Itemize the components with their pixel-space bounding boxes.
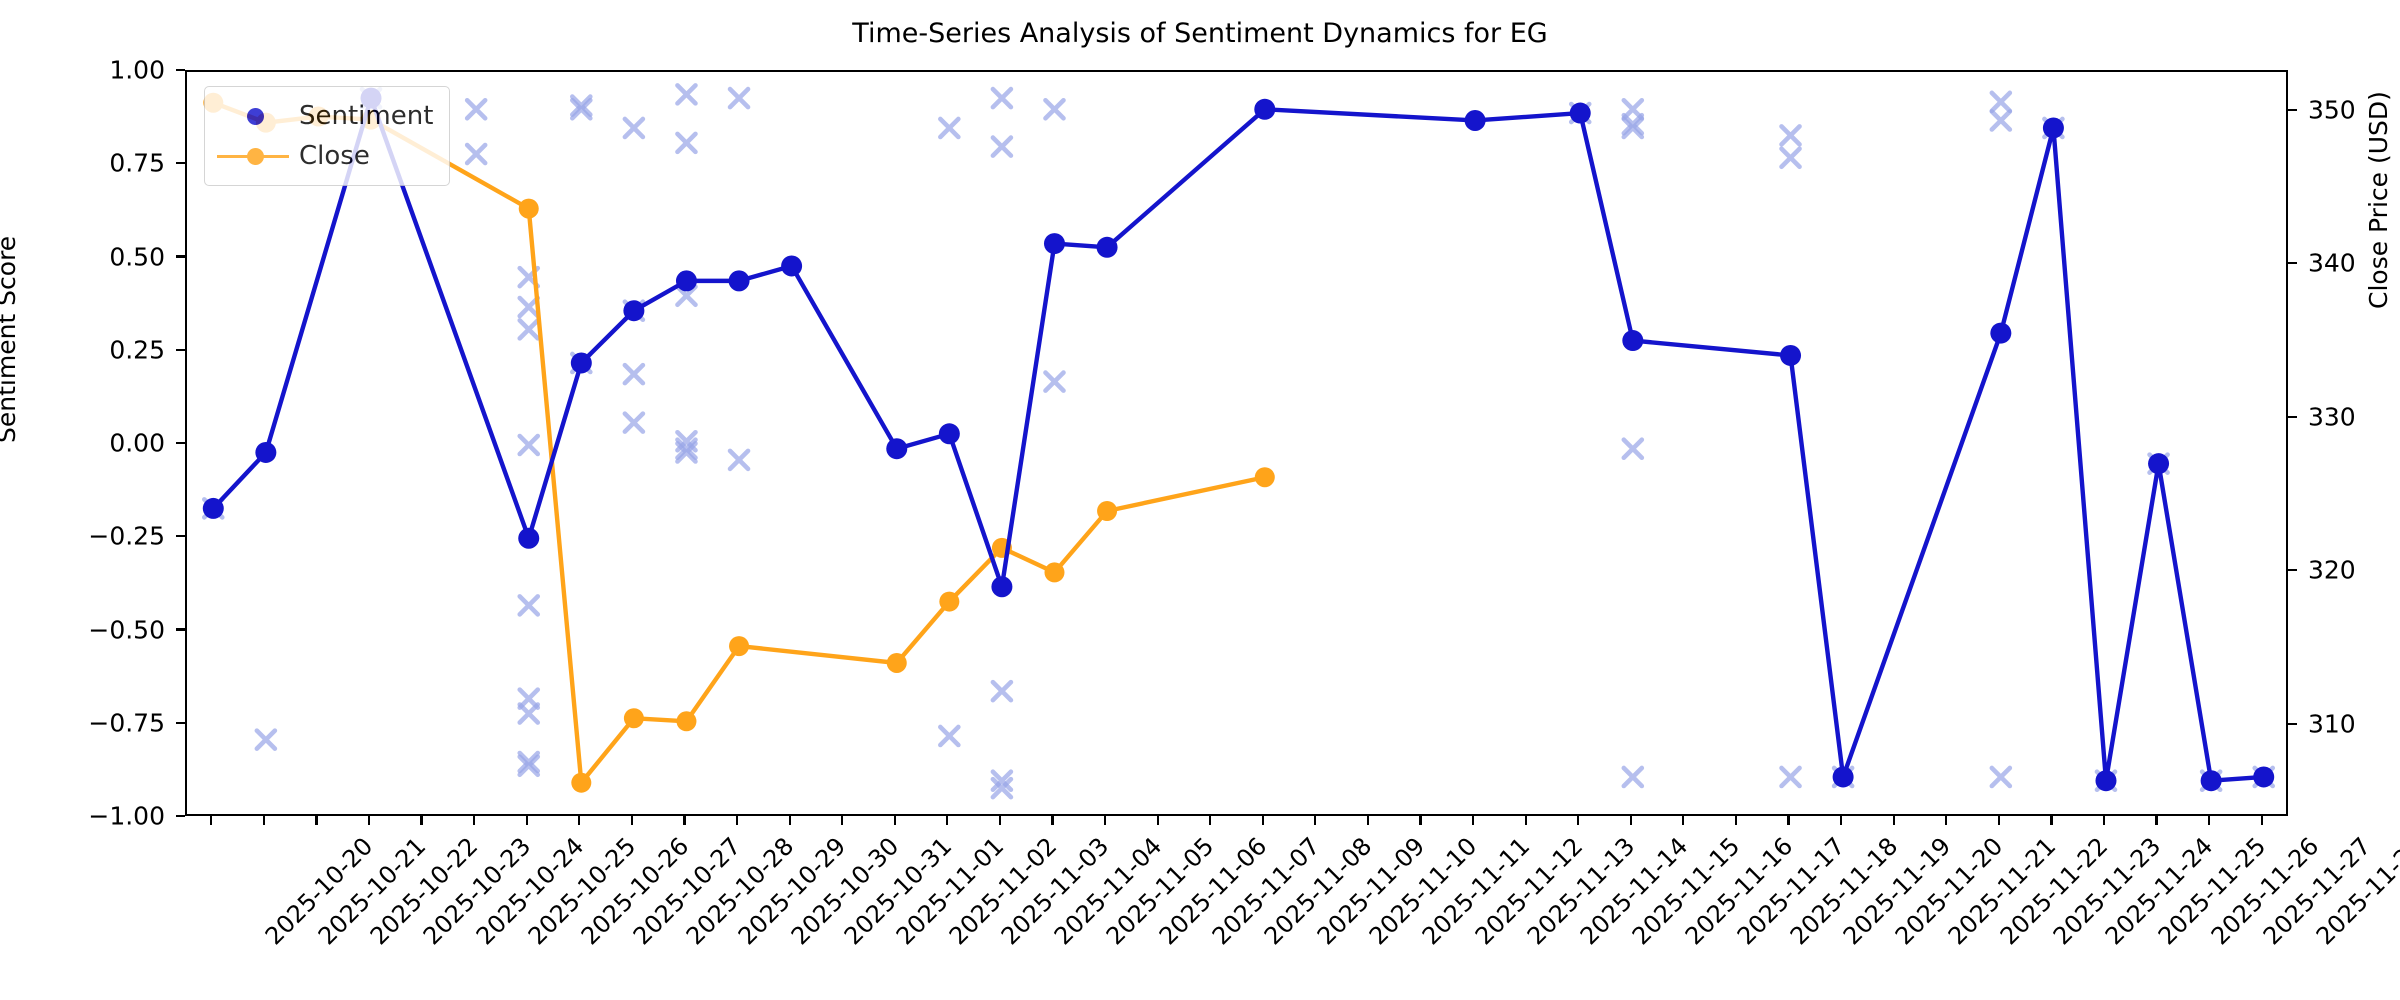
scatter-marker-x [993, 138, 1011, 156]
sentiment-series-point[interactable] [1044, 233, 1065, 254]
close-series-group [203, 93, 1275, 793]
sentiment-series-point[interactable] [1254, 99, 1275, 120]
close-series-point[interactable] [1097, 501, 1117, 521]
y-axis-right-tick-label: 330 [2308, 402, 2356, 431]
chart-legend: Sentiment Close [204, 86, 450, 186]
sentiment-series-group [203, 88, 2274, 792]
scatter-marker-x [520, 596, 538, 614]
close-series-point[interactable] [571, 773, 591, 793]
y-axis-left-tick-label: −0.25 [45, 522, 165, 551]
close-series-point[interactable] [676, 711, 696, 731]
scatter-marker-x [993, 89, 1011, 107]
y-axis-left-tick-label: −0.75 [45, 708, 165, 737]
sentiment-series-point[interactable] [676, 270, 697, 291]
legend-label-close: Close [299, 141, 370, 171]
sentiment-series-point[interactable] [1622, 330, 1643, 351]
legend-marker-close-dot [247, 148, 264, 165]
scatter-marker-x [1782, 126, 1800, 144]
sentiment-series-point[interactable] [1833, 766, 1854, 787]
scatter-marker-x [1045, 100, 1063, 118]
y-axis-left-tick-mark [176, 535, 185, 537]
close-series-point[interactable] [1044, 562, 1064, 582]
sentiment-series-point[interactable] [2253, 766, 2274, 787]
y-axis-right-tick-label: 340 [2308, 249, 2356, 278]
scatter-marker-x [993, 682, 1011, 700]
y-axis-left-tick-mark [176, 69, 185, 71]
y-axis-left-tick-label: 0.75 [45, 149, 165, 178]
y-axis-left-tick-mark [176, 628, 185, 630]
scatter-marker-x [625, 414, 643, 432]
sentiment-series-point[interactable] [255, 442, 276, 463]
sentiment-series-point[interactable] [2043, 117, 2064, 138]
scatter-marker-x [467, 100, 485, 118]
scatter-marker-x [520, 320, 538, 338]
sentiment-series-point[interactable] [991, 576, 1012, 597]
sentiment-series-point[interactable] [781, 255, 802, 276]
scatter-marker-x [467, 145, 485, 163]
sentiment-series-point[interactable] [2148, 453, 2169, 474]
y-axis-left-label: Sentiment Score [0, 236, 21, 443]
scatter-marker-x [257, 731, 275, 749]
sentiment-series-point[interactable] [2095, 770, 2116, 791]
sentiment-series-point[interactable] [1780, 345, 1801, 366]
scatter-marker-x [730, 451, 748, 469]
y-axis-right-tick-label: 320 [2308, 556, 2356, 585]
sentiment-series-point[interactable] [1570, 103, 1591, 124]
sentiment-series-point[interactable] [203, 498, 224, 519]
chart-title: Time-Series Analysis of Sentiment Dynami… [0, 18, 2400, 49]
scatter-marker-x [1624, 768, 1642, 786]
sentiment-series-point[interactable] [729, 270, 750, 291]
legend-label-sentiment: Sentiment [299, 101, 433, 131]
y-axis-left-tick-label: 0.00 [45, 429, 165, 458]
sentiment-series-point[interactable] [518, 528, 539, 549]
scatter-marker-x [625, 119, 643, 137]
close-series-point[interactable] [624, 708, 644, 728]
close-series-point[interactable] [519, 199, 539, 219]
sentiment-series-point[interactable] [571, 352, 592, 373]
y-axis-right-tick-label: 350 [2308, 95, 2356, 124]
scatter-marker-x [940, 119, 958, 137]
y-axis-left-tick-mark [176, 815, 185, 817]
sentiment-series-point[interactable] [939, 423, 960, 444]
sentiment-series-point[interactable] [1465, 110, 1486, 131]
legend-item-close[interactable]: Close [217, 136, 433, 176]
scatter-marker-x [1992, 93, 2010, 111]
legend-item-sentiment[interactable]: Sentiment [217, 96, 433, 136]
sentiment-series-point[interactable] [886, 438, 907, 459]
scatter-marker-x [1992, 768, 2010, 786]
scatter-marker-x [1624, 440, 1642, 458]
plot-area: Sentiment Close [185, 70, 2288, 816]
legend-marker-sentiment-dot [247, 108, 264, 125]
scatter-marker-x [1992, 111, 2010, 129]
close-series-point[interactable] [939, 592, 959, 612]
scatter-marker-x [730, 89, 748, 107]
y-axis-left-tick-label: 1.00 [45, 56, 165, 85]
scatter-marker-x [1045, 373, 1063, 391]
scatter-marker-x [677, 85, 695, 103]
y-axis-right-tick-label: 310 [2308, 709, 2356, 738]
scatter-marker-x [625, 365, 643, 383]
scatter-marker-x [520, 705, 538, 723]
y-axis-left-tick-label: −1.00 [45, 802, 165, 831]
plot-svg [187, 72, 2290, 818]
y-axis-left-tick-mark [176, 162, 185, 164]
close-series-point[interactable] [887, 653, 907, 673]
scatter-marker-x [1782, 768, 1800, 786]
chart-figure: Time-Series Analysis of Sentiment Dynami… [0, 0, 2400, 1000]
sentiment-series-point[interactable] [623, 300, 644, 321]
y-axis-left-tick-mark [176, 255, 185, 257]
y-axis-left-tick-label: 0.50 [45, 242, 165, 271]
close-series-line [213, 103, 1265, 783]
close-series-point[interactable] [1255, 467, 1275, 487]
y-axis-left-tick-mark [176, 349, 185, 351]
sentiment-series-point[interactable] [1990, 323, 2011, 344]
scatter-marker-x [520, 436, 538, 454]
scatter-marker-x [1782, 149, 1800, 167]
y-axis-left-tick-label: 0.25 [45, 335, 165, 364]
legend-key-close [217, 145, 289, 167]
y-axis-left-tick-mark [176, 722, 185, 724]
y-axis-left-tick-label: −0.50 [45, 615, 165, 644]
scatter-marker-x [677, 134, 695, 152]
y-axis-right-label: Close Price (USD) [2364, 91, 2393, 309]
legend-key-sentiment [217, 105, 289, 127]
sentiment-series-point[interactable] [2201, 770, 2222, 791]
sentiment-series-point[interactable] [1097, 237, 1118, 258]
scatter-marker-x [940, 727, 958, 745]
y-axis-left-tick-mark [176, 442, 185, 444]
close-series-point[interactable] [729, 636, 749, 656]
